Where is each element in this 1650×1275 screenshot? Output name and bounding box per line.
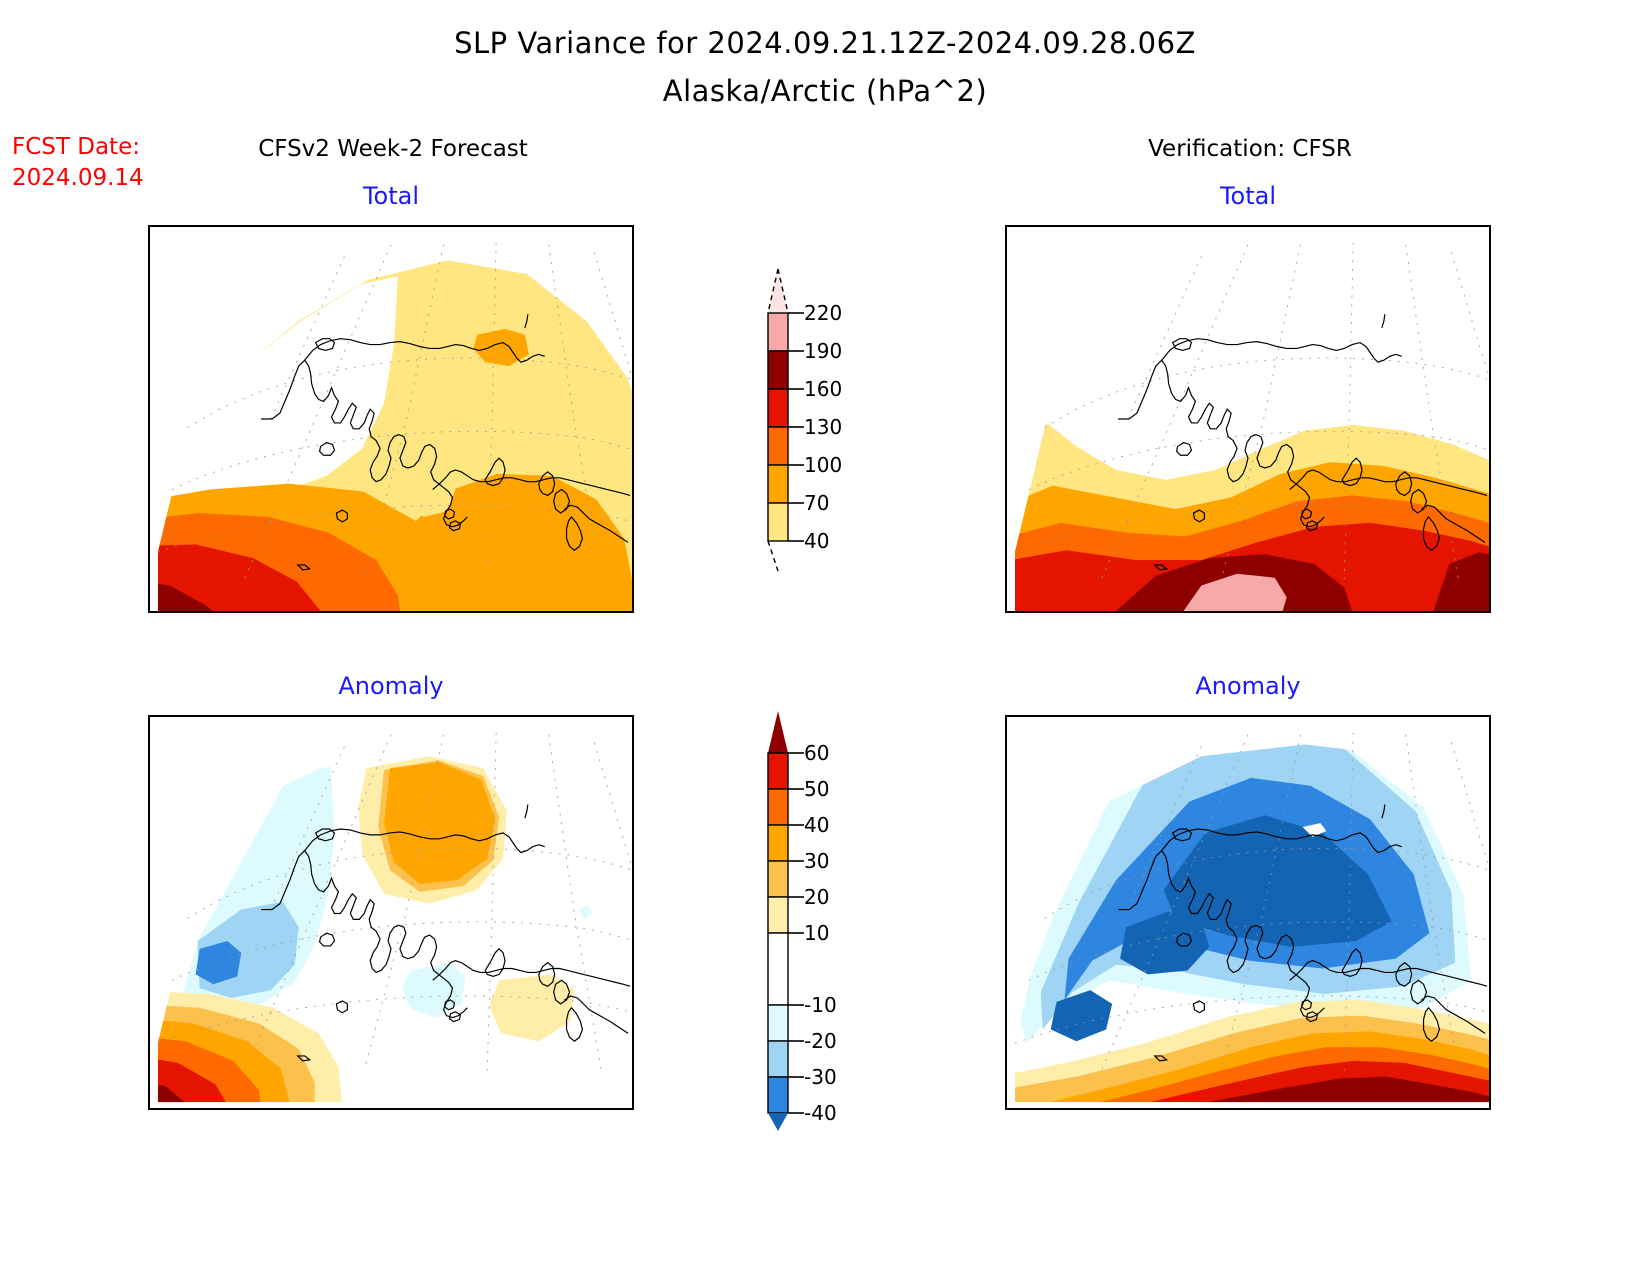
cb-total-tick-70: 70 <box>804 491 829 515</box>
panel-title-bottom-left: Anomaly <box>148 672 634 700</box>
page-title-line1: SLP Variance for 2024.09.21.12Z-2024.09.… <box>0 26 1650 60</box>
cb-anom-tick-40: 40 <box>804 813 829 837</box>
cb-anom-tick-neg30: -30 <box>804 1065 837 1089</box>
cb-total-tick-40: 40 <box>804 529 829 553</box>
cb-total-tick-130: 130 <box>804 415 842 439</box>
total-variance-colorbar[interactable]: 220 190 160 130 100 70 40 <box>700 265 900 575</box>
page-title-line2: Alaska/Arctic (hPa^2) <box>0 74 1650 108</box>
cb-anom-extend-bottom <box>768 1113 788 1131</box>
map-panel-verification-anomaly[interactable] <box>1005 715 1491 1110</box>
column-header-forecast: CFSv2 Week-2 Forecast <box>148 136 638 162</box>
contour-fill-verification-total <box>1007 254 1489 611</box>
cb-anom-tick-30: 30 <box>804 849 829 873</box>
cb-anom-tick-20: 20 <box>804 885 829 909</box>
panel-title-top-left: Total <box>148 182 634 210</box>
map-panel-forecast-total[interactable] <box>148 225 634 613</box>
cb-total-tick-100: 100 <box>804 453 842 477</box>
cb-total-tick-190: 190 <box>804 339 842 363</box>
cb-anom-tick-neg10: -10 <box>804 993 837 1017</box>
cb-anom-extend-top <box>768 711 788 753</box>
cb-anom-tick-60: 60 <box>804 741 829 765</box>
cb-total-tick-220: 220 <box>804 301 842 325</box>
anomaly-colorbar[interactable]: 60 50 40 30 20 10 -10 -20 -30 -40 <box>700 705 900 1135</box>
cb-anom-tick-10: 10 <box>804 921 829 945</box>
contour-fill-forecast-total <box>150 260 632 611</box>
cb-anom-tick-50: 50 <box>804 777 829 801</box>
map-panel-verification-total[interactable] <box>1005 225 1491 613</box>
contour-fill-forecast-anomaly <box>150 750 632 1108</box>
cb-anom-tick-neg20: -20 <box>804 1029 837 1053</box>
contour-fill-verification-anomaly <box>1007 733 1489 1108</box>
cb-total-extend-top <box>768 269 788 313</box>
forecast-date-label: FCST Date: 2024.09.14 <box>12 132 144 194</box>
map-panel-forecast-anomaly[interactable] <box>148 715 634 1110</box>
panel-title-bottom-right: Anomaly <box>1005 672 1491 700</box>
column-header-verification: Verification: CFSR <box>1005 136 1495 162</box>
cb-total-tick-160: 160 <box>804 377 842 401</box>
panel-title-top-right: Total <box>1005 182 1491 210</box>
cb-anom-tick-neg40: -40 <box>804 1101 837 1125</box>
